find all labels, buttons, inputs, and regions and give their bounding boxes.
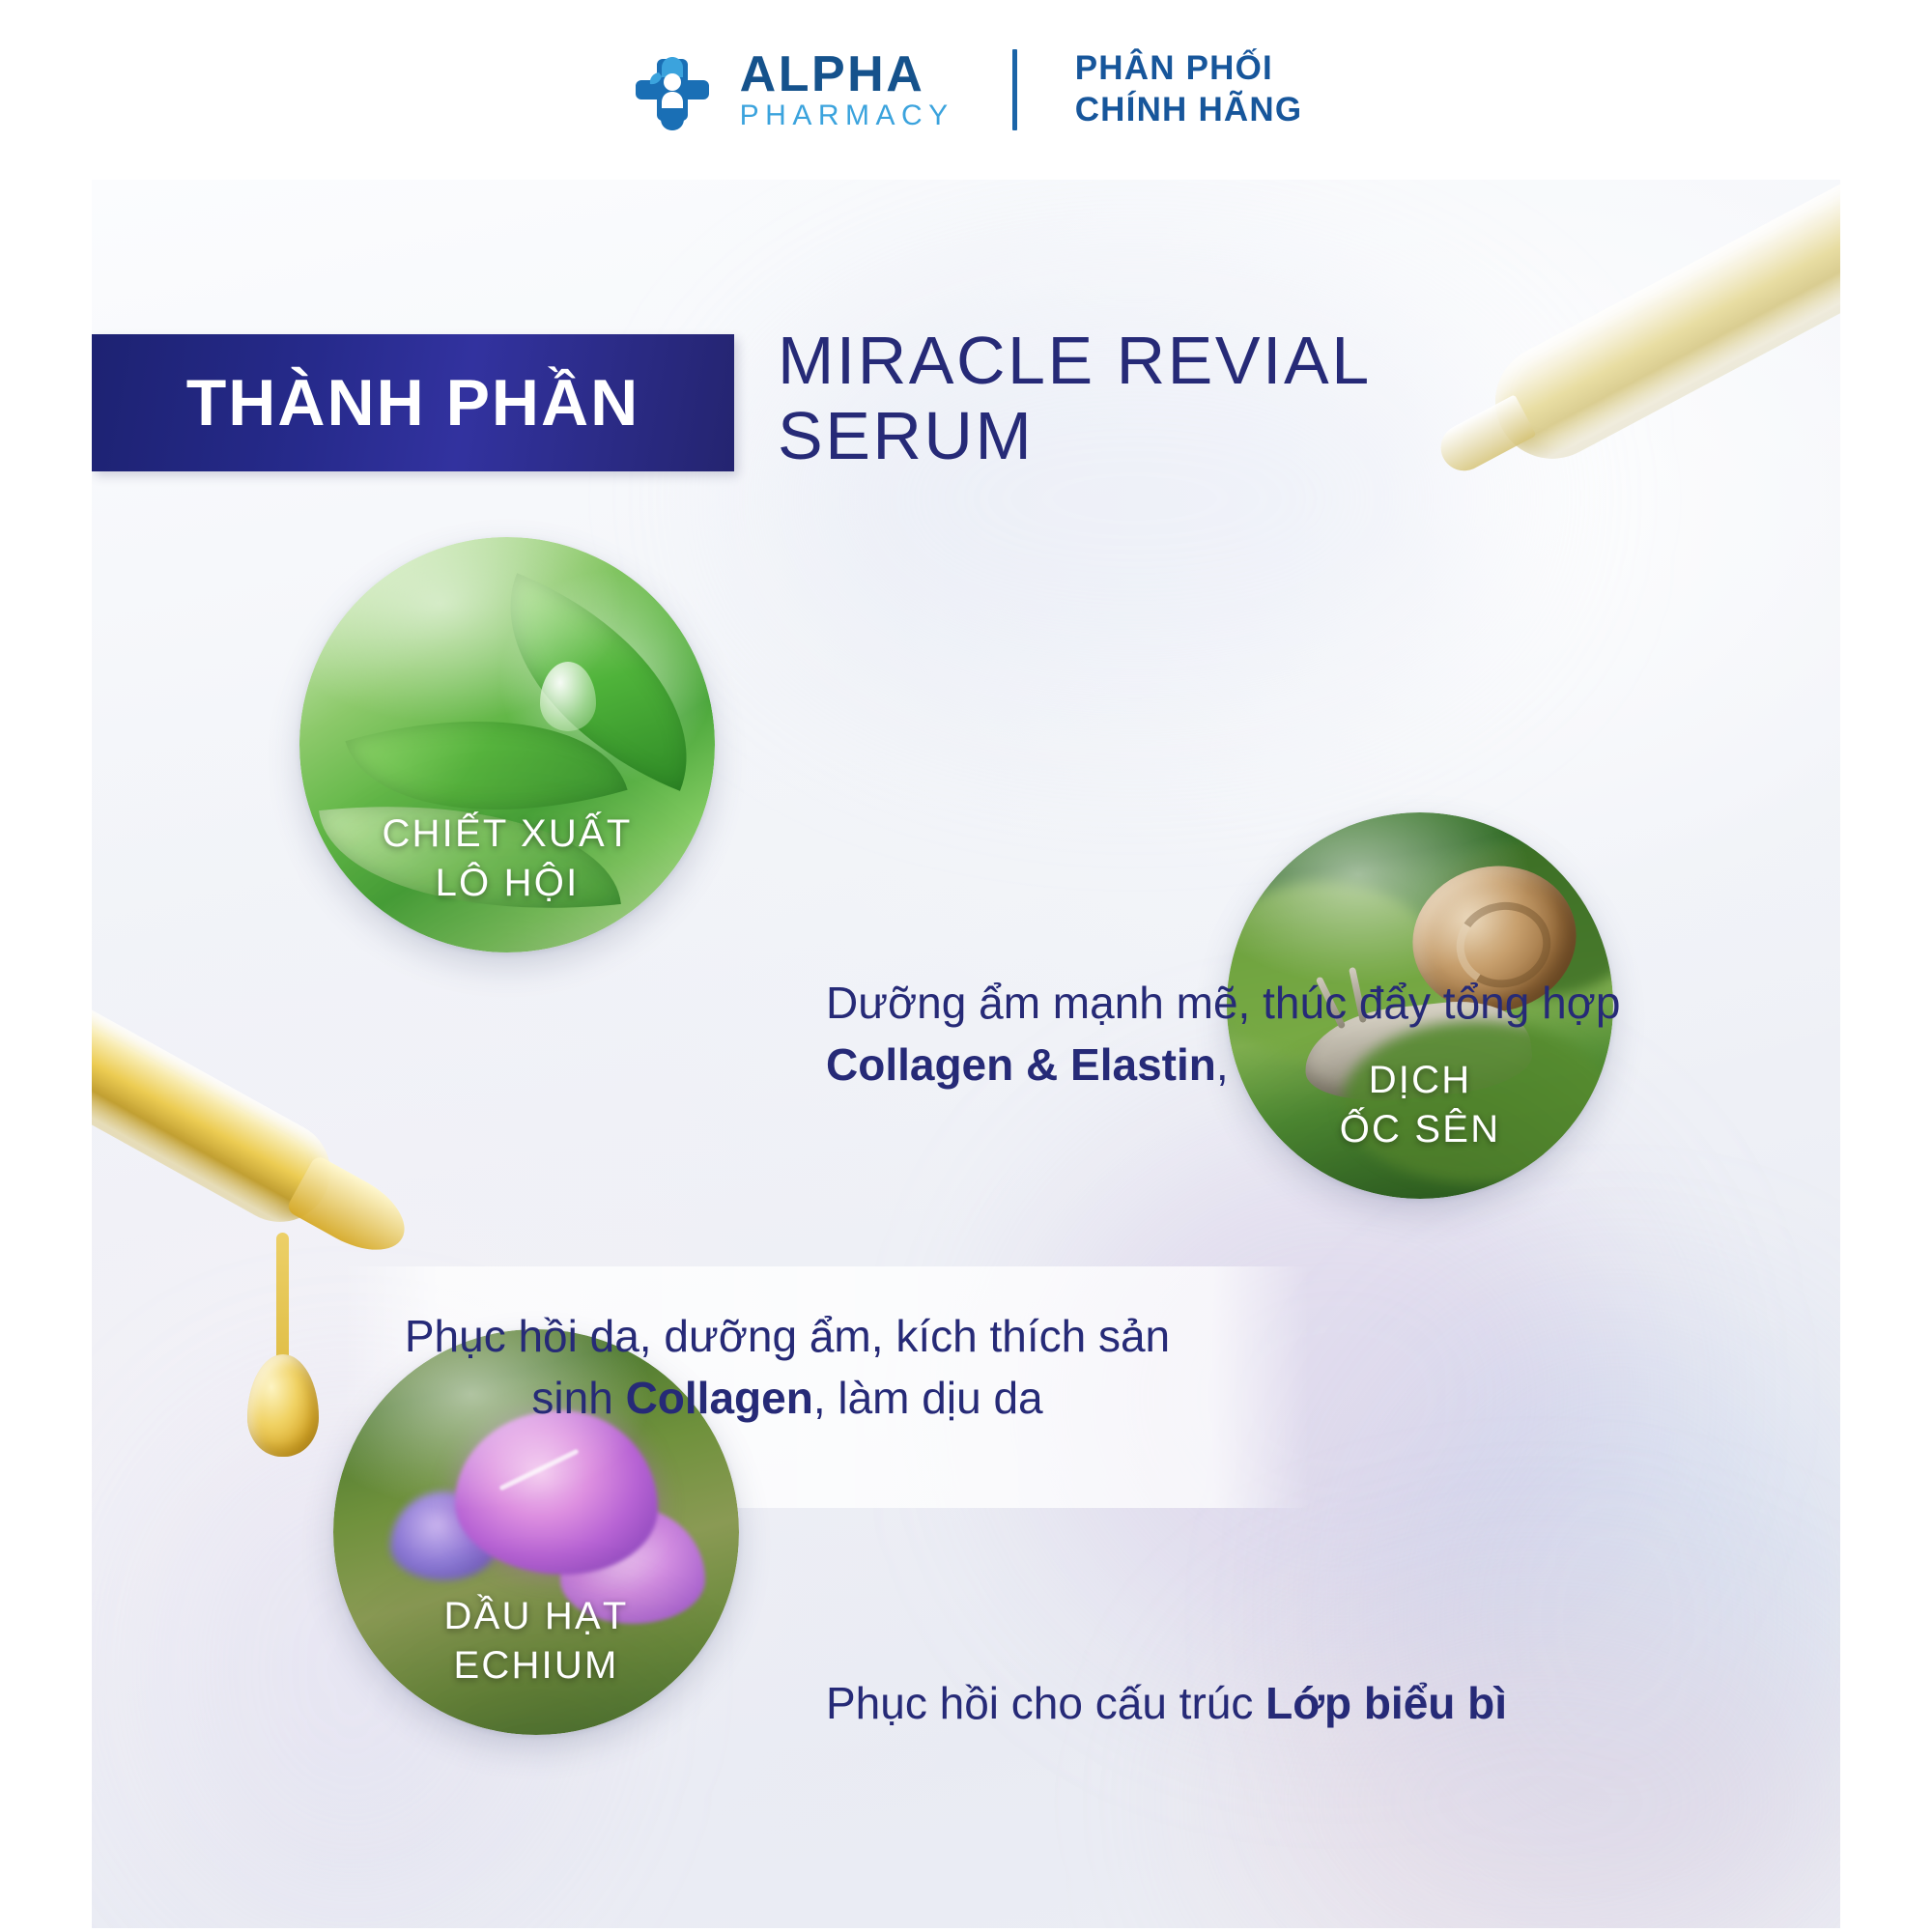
- product-title-line-1: MIRACLE REVIAL: [778, 323, 1724, 398]
- ingredient-description-echium-bold: Lớp biểu bì: [1265, 1678, 1507, 1728]
- background-glow-right: [1367, 1320, 1840, 1918]
- brand-lockup[interactable]: ALPHA PHARMACY PHÂN PHỐI CHÍNH HÃNG: [630, 47, 1303, 132]
- ingredient-caption-echium: DẦU HẠT ECHIUM: [333, 1592, 739, 1690]
- pharmacy-cross-logo-icon: [630, 47, 715, 132]
- ingredient-description-snail-after: , làm dịu da: [813, 1373, 1043, 1423]
- header-tagline: PHÂN PHỐI CHÍNH HÃNG: [1075, 48, 1303, 130]
- ingredient-description-echium: Phục hồi cho cấu trúc Lớp biểu bì: [826, 1672, 1579, 1734]
- ingredient-description-aloe-after: ,: [1216, 1039, 1229, 1090]
- section-badge: THÀNH PHẦN: [92, 334, 734, 471]
- header-divider: [1012, 49, 1017, 130]
- ingredient-caption-aloe: CHIẾT XUẤT LÔ HỘI: [299, 810, 715, 908]
- tagline-line-2: CHÍNH HÃNG: [1075, 90, 1303, 131]
- ingredient-bubble-aloe: CHIẾT XUẤT LÔ HỘI: [299, 537, 715, 952]
- ingredient-description-aloe-before: Dưỡng ẩm mạnh mẽ, thúc đẩy tổng hợp: [826, 978, 1620, 1028]
- ingredient-caption-snail-line-2: ỐC SÊN: [1227, 1105, 1613, 1154]
- ingredient-description-echium-before: Phục hồi cho cấu trúc: [826, 1678, 1265, 1728]
- ingredient-description-aloe: Dưỡng ẩm mạnh mẽ, thúc đẩy tổng hợp Coll…: [826, 972, 1637, 1096]
- product-title-line-2: SERUM: [778, 398, 1724, 473]
- poster-canvas: ALPHA PHARMACY PHÂN PHỐI CHÍNH HÃNG: [0, 0, 1932, 1932]
- section-badge-label: THÀNH PHẦN: [186, 370, 640, 436]
- ingredient-description-snail-bold: Collagen: [626, 1373, 813, 1423]
- tagline-line-1: PHÂN PHỐI: [1075, 48, 1303, 90]
- ingredient-description-aloe-bold: Collagen & Elastin: [826, 1039, 1216, 1090]
- ingredient-description-snail: Phục hồi da, dưỡng ẩm, kích thích sản si…: [362, 1305, 1212, 1430]
- ingredient-caption-aloe-line-2: LÔ HỘI: [299, 859, 715, 908]
- brand-name-secondary: PHARMACY: [740, 101, 954, 129]
- ingredient-caption-aloe-line-1: CHIẾT XUẤT: [299, 810, 715, 859]
- serum-drip-icon: [241, 1233, 325, 1474]
- ingredients-poster: THÀNH PHẦN MIRACLE REVIAL SERUM CHIẾT XU…: [92, 180, 1840, 1928]
- site-header: ALPHA PHARMACY PHÂN PHỐI CHÍNH HÃNG: [0, 0, 1932, 180]
- background-glow-bottom: [1232, 1600, 1840, 1928]
- ingredient-caption-echium-line-2: ECHIUM: [333, 1641, 739, 1690]
- brand-name-primary: ALPHA: [740, 50, 954, 99]
- ingredient-caption-echium-line-1: DẦU HẠT: [333, 1592, 739, 1641]
- brand-wordmark: ALPHA PHARMACY: [740, 50, 954, 129]
- product-title: MIRACLE REVIAL SERUM: [778, 323, 1724, 474]
- poster-heading-row: THÀNH PHẦN MIRACLE REVIAL SERUM: [92, 334, 1840, 498]
